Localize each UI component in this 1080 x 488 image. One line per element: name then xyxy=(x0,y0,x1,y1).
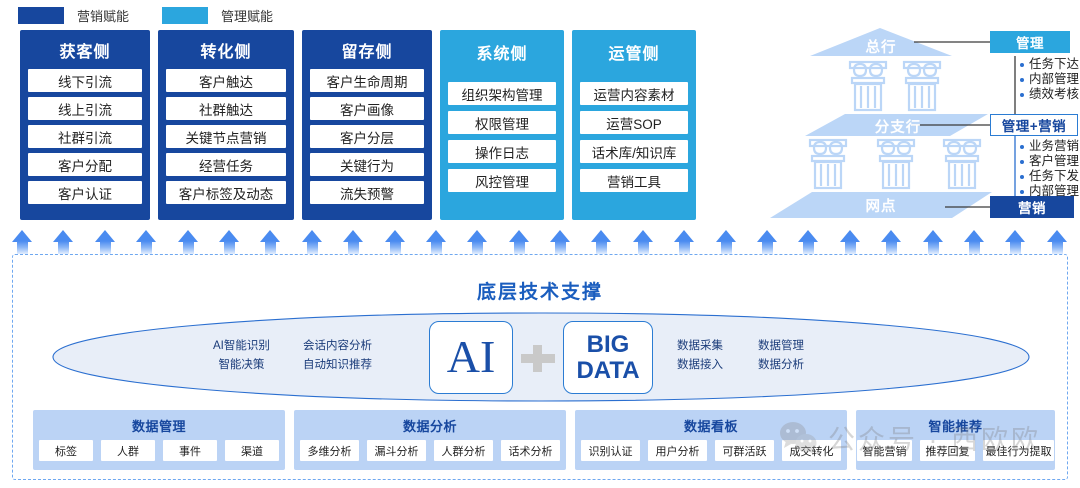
chip[interactable]: 话术分析 xyxy=(501,440,560,461)
pyramid-bullets-bottom: 业务营销 客户管理 任务下发 内部管理 xyxy=(1020,139,1079,199)
chip[interactable]: 事件 xyxy=(163,440,217,461)
column-title: 系统侧 xyxy=(476,40,527,64)
up-arrow-icon xyxy=(840,230,861,256)
column-item[interactable]: 客户认证 xyxy=(28,181,142,204)
column-title: 转化侧 xyxy=(200,38,251,62)
column-item[interactable]: 客户画像 xyxy=(310,97,424,120)
column-item[interactable]: 客户分配 xyxy=(28,153,142,176)
group-chips: 标签 人群 事件 渠道 xyxy=(39,440,279,461)
up-arrow-icon xyxy=(53,230,74,256)
column-title: 留存侧 xyxy=(341,38,392,62)
column-item[interactable]: 线上引流 xyxy=(28,97,142,120)
up-arrow-icon xyxy=(881,230,902,256)
lens-text-right-col-b: 数据管理 数据分析 xyxy=(758,337,804,375)
lens-text-line: 数据分析 xyxy=(758,356,804,375)
chip[interactable]: 人群分析 xyxy=(434,440,493,461)
column-item[interactable]: 客户分层 xyxy=(310,125,424,148)
column-title: 运管侧 xyxy=(608,40,659,64)
legend-label-management: 管理赋能 xyxy=(221,6,273,25)
slide-root: 营销赋能 管理赋能 获客侧 线下引流 线上引流 社群引流 客户分配 客户认证 转… xyxy=(0,0,1080,488)
up-arrow-icon xyxy=(964,230,985,256)
up-arrow-icon xyxy=(591,230,612,256)
bullet-item: 内部管理 xyxy=(1020,184,1079,199)
up-arrow-icon xyxy=(798,230,819,256)
pyramid-tier-label-outlet: 网点 xyxy=(846,195,916,216)
column-items: 运营内容素材 运营SOP 话术库/知识库 营销工具 xyxy=(580,82,688,192)
up-arrow-icon xyxy=(302,230,323,256)
up-arrow-icon xyxy=(550,230,571,256)
lens-text-right-col-a: 数据采集 数据接入 xyxy=(677,337,723,375)
chip[interactable]: 推荐回复 xyxy=(920,440,975,461)
up-arrow-icon xyxy=(716,230,737,256)
big-data-badge-line1: BIG xyxy=(587,332,630,357)
capability-column-operations: 运管侧 运营内容素材 运营SOP 话术库/知识库 营销工具 xyxy=(572,30,696,220)
capability-column-acquisition: 获客侧 线下引流 线上引流 社群引流 客户分配 客户认证 xyxy=(20,30,150,220)
column-item[interactable]: 线下引流 xyxy=(28,69,142,92)
column-items: 客户触达 社群触达 关键节点营销 经营任务 客户标签及动态 xyxy=(166,69,286,204)
capability-column-conversion: 转化侧 客户触达 社群触达 关键节点营销 经营任务 客户标签及动态 xyxy=(158,30,294,220)
column-item[interactable]: 运营内容素材 xyxy=(580,82,688,105)
column-item[interactable]: 社群触达 xyxy=(166,97,286,120)
pyramid-tag-management-marketing[interactable]: 管理+营销 xyxy=(990,114,1078,136)
group-title: 数据管理 xyxy=(132,416,186,435)
up-arrow-icon xyxy=(426,230,447,256)
up-arrow-icon xyxy=(1047,230,1068,256)
bullet-item: 业务营销 xyxy=(1020,139,1079,154)
pyramid-tag-management[interactable]: 管理 xyxy=(990,31,1070,53)
up-arrow-icon xyxy=(136,230,157,256)
capability-column-retention: 留存侧 客户生命周期 客户画像 客户分层 关键行为 流失预警 xyxy=(302,30,432,220)
up-arrow-icon xyxy=(343,230,364,256)
column-item[interactable]: 关键行为 xyxy=(310,153,424,176)
big-data-badge-line2: DATA xyxy=(576,358,639,383)
lens-text-line: AI智能识别 xyxy=(213,337,270,356)
up-arrow-icon xyxy=(95,230,116,256)
group-title: 数据分析 xyxy=(403,416,457,435)
group-data-analysis: 数据分析 多维分析 漏斗分析 人群分析 话术分析 xyxy=(294,410,566,470)
lens-text-line: 自动知识推荐 xyxy=(303,356,372,375)
pyramid-bullets-top: 任务下达 内部管理 绩效考核 xyxy=(1020,57,1079,102)
lens-text-line: 数据管理 xyxy=(758,337,804,356)
big-data-badge: BIG DATA xyxy=(563,321,653,394)
column-item[interactable]: 操作日志 xyxy=(448,140,556,163)
column-item[interactable]: 客户触达 xyxy=(166,69,286,92)
chip[interactable]: 标签 xyxy=(39,440,93,461)
group-chips: 智能营销 推荐回复 最佳行为提取 xyxy=(857,440,1054,461)
group-data-dashboard: 数据看板 识别认证 用户分析 可群活跃 成交转化 xyxy=(575,410,847,470)
bullet-item: 任务下达 xyxy=(1020,57,1079,72)
lens-text-line: 会话内容分析 xyxy=(303,337,372,356)
group-smart-recommendation: 智能推荐 智能营销 推荐回复 最佳行为提取 xyxy=(856,410,1055,470)
column-items: 线下引流 线上引流 社群引流 客户分配 客户认证 xyxy=(28,69,142,204)
chip[interactable]: 可群活跃 xyxy=(715,440,774,461)
plus-icon xyxy=(521,345,555,371)
chip[interactable]: 成交转化 xyxy=(782,440,841,461)
capability-strip: 数据管理 标签 人群 事件 渠道 数据分析 多维分析 漏斗分析 人群分析 话术分… xyxy=(33,410,1049,470)
chip[interactable]: 识别认证 xyxy=(581,440,640,461)
legend-label-marketing: 营销赋能 xyxy=(77,6,129,25)
pyramid-tier-label-head: 总行 xyxy=(848,36,914,57)
column-item[interactable]: 客户标签及动态 xyxy=(166,181,286,204)
up-arrow-icon xyxy=(757,230,778,256)
column-item[interactable]: 组织架构管理 xyxy=(448,82,556,105)
lens-text-line: 数据接入 xyxy=(677,356,723,375)
column-item[interactable]: 风控管理 xyxy=(448,169,556,192)
column-item[interactable]: 权限管理 xyxy=(448,111,556,134)
chip[interactable]: 用户分析 xyxy=(648,440,707,461)
up-arrow-icon xyxy=(467,230,488,256)
panel-title: 底层技术支撑 xyxy=(13,277,1067,304)
lens-text-line: 智能决策 xyxy=(213,356,270,375)
bullet-item: 任务下发 xyxy=(1020,169,1079,184)
legend: 营销赋能 管理赋能 xyxy=(18,4,306,26)
up-arrow-icon xyxy=(674,230,695,256)
group-title: 数据看板 xyxy=(684,416,738,435)
capability-column-system: 系统侧 组织架构管理 权限管理 操作日志 风控管理 xyxy=(440,30,564,220)
chip[interactable]: 漏斗分析 xyxy=(367,440,426,461)
chip[interactable]: 渠道 xyxy=(225,440,279,461)
group-title: 智能推荐 xyxy=(928,416,982,435)
ai-badge: AI xyxy=(429,321,513,394)
legend-swatch-management xyxy=(162,7,208,24)
chip[interactable]: 最佳行为提取 xyxy=(983,440,1054,461)
column-item[interactable]: 营销工具 xyxy=(580,169,688,192)
column-items: 组织架构管理 权限管理 操作日志 风控管理 xyxy=(448,82,556,192)
up-arrow-icon xyxy=(633,230,654,256)
up-arrow-icon xyxy=(12,230,33,256)
column-item[interactable]: 经营任务 xyxy=(166,153,286,176)
bullet-item: 绩效考核 xyxy=(1020,87,1079,102)
up-arrow-icon xyxy=(219,230,240,256)
group-chips: 多维分析 漏斗分析 人群分析 话术分析 xyxy=(300,440,560,461)
chip[interactable]: 智能营销 xyxy=(857,440,912,461)
bullet-item: 客户管理 xyxy=(1020,154,1079,169)
column-item[interactable]: 流失预警 xyxy=(310,181,424,204)
bullet-item: 内部管理 xyxy=(1020,72,1079,87)
up-arrow-icon xyxy=(1005,230,1026,256)
up-arrow-icon xyxy=(260,230,281,256)
column-item[interactable]: 话术库/知识库 xyxy=(580,140,688,163)
bank-hierarchy-pyramid: 总行 分支行 网点 管理 管理+营销 营销 任务下达 内部管理 绩效考核 业务营… xyxy=(700,26,1080,231)
column-item[interactable]: 运营SOP xyxy=(580,111,688,134)
chip[interactable]: 多维分析 xyxy=(300,440,359,461)
group-data-management: 数据管理 标签 人群 事件 渠道 xyxy=(33,410,285,470)
pyramid-tag-marketing[interactable]: 营销 xyxy=(990,196,1074,218)
group-chips: 识别认证 用户分析 可群活跃 成交转化 xyxy=(581,440,841,461)
lens-text-left-col-b: 会话内容分析 自动知识推荐 xyxy=(303,337,372,375)
column-item[interactable]: 客户生命周期 xyxy=(310,69,424,92)
up-arrow-icon xyxy=(178,230,199,256)
legend-swatch-marketing xyxy=(18,7,64,24)
lens-text-left-col-a: AI智能识别 智能决策 xyxy=(213,337,270,375)
pyramid-tier-label-branch: 分支行 xyxy=(863,116,933,137)
column-items: 客户生命周期 客户画像 客户分层 关键行为 流失预警 xyxy=(310,69,424,204)
up-arrow-icon xyxy=(923,230,944,256)
column-title: 获客侧 xyxy=(59,38,110,62)
column-item[interactable]: 社群引流 xyxy=(28,125,142,148)
column-item[interactable]: 关键节点营销 xyxy=(166,125,286,148)
lens-text-line: 数据采集 xyxy=(677,337,723,356)
foundation-panel: 底层技术支撑 AI智能识别 智能决策 会话内容分析 自动知识推荐 AI BIG … xyxy=(12,254,1068,480)
up-arrow-icon xyxy=(385,230,406,256)
chip[interactable]: 人群 xyxy=(101,440,155,461)
up-arrow-icon xyxy=(509,230,530,256)
